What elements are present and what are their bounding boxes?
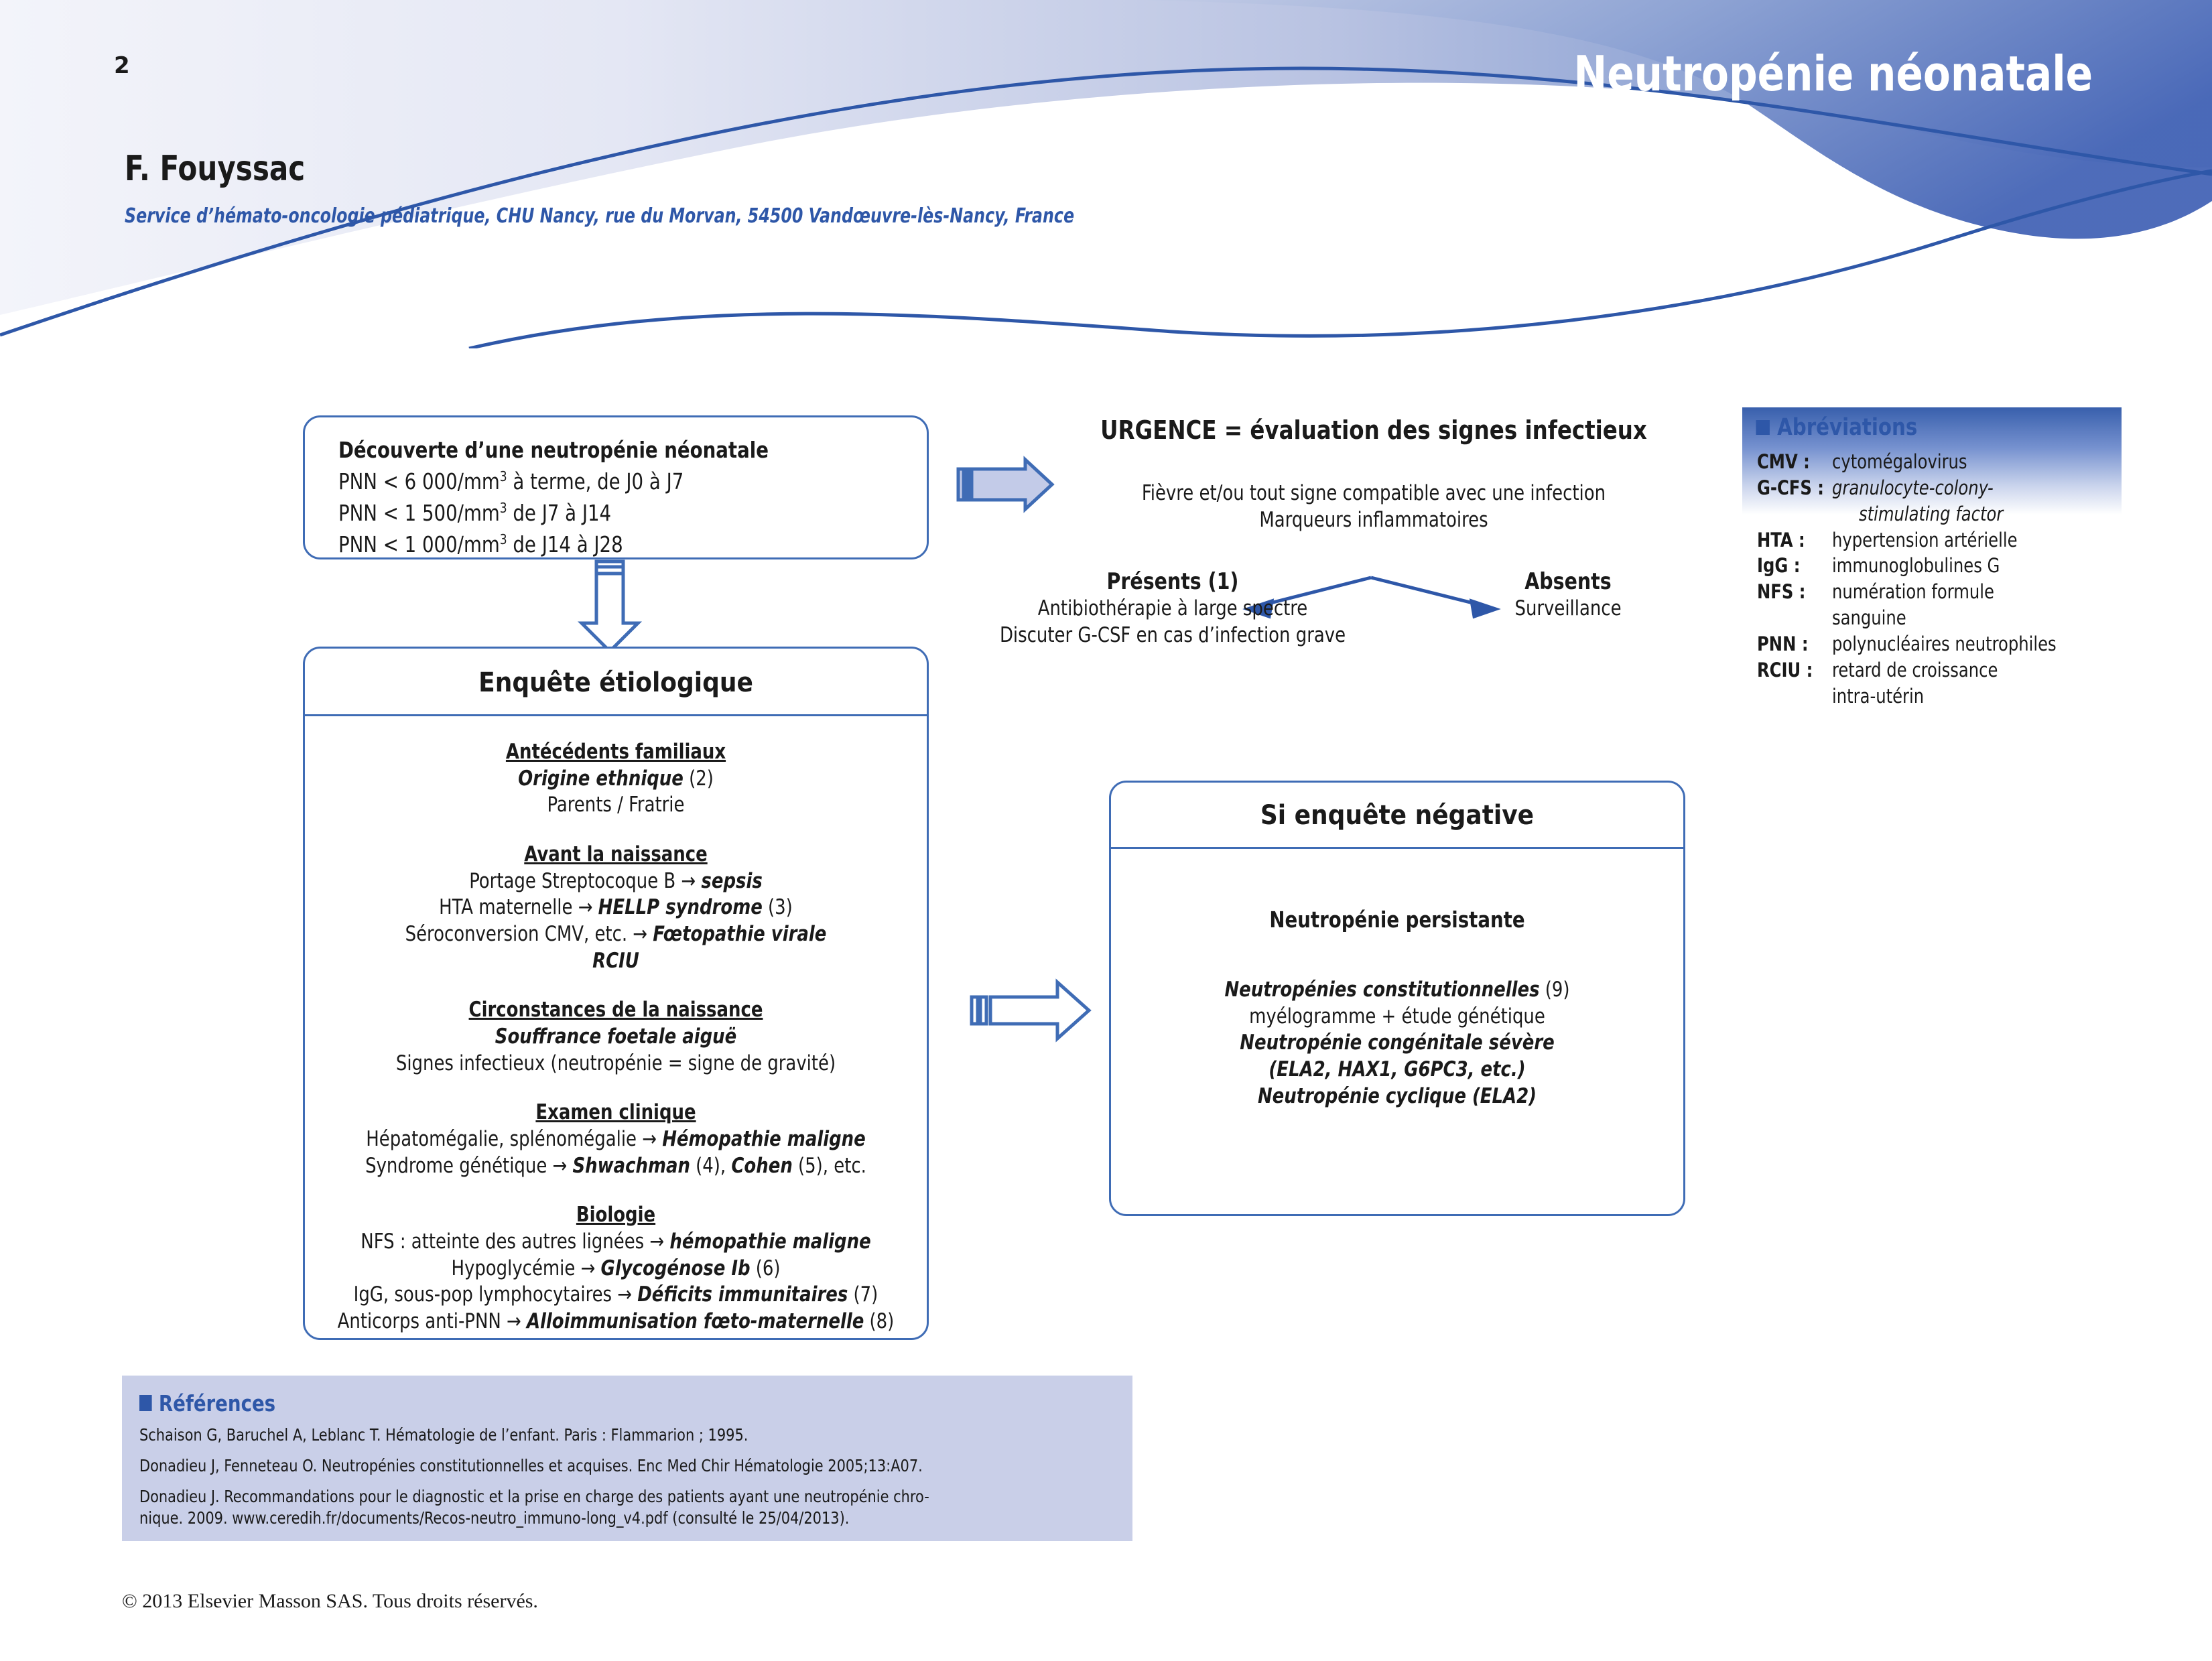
- enquete-section: Biologie NFS : atteinte des autres ligné…: [312, 1202, 920, 1335]
- emphasis-term: Souffrance foetale aiguë: [495, 1024, 736, 1049]
- abbreviation-key: G-CFS :: [1757, 475, 1827, 501]
- criterion-1-prefix: PNN < 6 000/mm: [338, 468, 500, 494]
- criterion-3-sup: 3: [500, 531, 507, 547]
- emphasis-term: sepsis: [701, 869, 762, 893]
- discovery-criterion-3: PNN < 1 000/mm3 de J14 à J28: [338, 529, 886, 561]
- emphasis-term: RCIU: [592, 949, 639, 973]
- abbreviation-value-continued: intra-utérin: [1757, 683, 2131, 710]
- abbreviation-value: numération formule: [1832, 579, 1994, 605]
- reference-item: Donadieu J, Fenneteau O. Neutropénies co…: [139, 1455, 1115, 1477]
- urgence-subtitles: Fièvre et/ou tout signe compatible avec …: [1065, 480, 1682, 534]
- plain-term: (4),: [690, 1154, 731, 1178]
- enquete-section: Examen cliniqueHépatomégalie, splénoméga…: [312, 1100, 920, 1179]
- plain-term: HTA maternelle →: [439, 895, 598, 919]
- abbreviations-panel: Abréviations CMV :cytomégalovirusG-CFS :…: [1742, 407, 2131, 710]
- plain-term: Hypoglycémie →: [451, 1256, 600, 1280]
- abbreviations-heading-text: Abréviations: [1777, 414, 1917, 441]
- section-line: Hépatomégalie, splénomégalie → Hémopathi…: [333, 1126, 899, 1153]
- enquete-box: Enquête étiologique Antécédents familiau…: [303, 647, 929, 1340]
- enquete-section-head: Avant la naissance: [333, 842, 899, 868]
- negative-divider: [1111, 847, 1683, 849]
- abbreviation-value-continued: sanguine: [1757, 605, 2131, 631]
- branch-absent: Absents Surveillance: [1441, 568, 1695, 622]
- enquete-section-head: Examen clinique: [333, 1100, 899, 1126]
- enquete-section-head: Antécédents familiaux: [333, 739, 899, 766]
- plain-term: (6): [751, 1256, 781, 1280]
- plain-term: Hépatomégalie, splénomégalie →: [366, 1127, 662, 1151]
- discovery-title: Découverte d’une neutropénie néonatale: [338, 435, 886, 466]
- abbreviation-value: granulocyte-colony-: [1832, 475, 1994, 501]
- abbreviation-row: G-CFS :granulocyte-colony-: [1757, 475, 2131, 501]
- references-list: Schaison G, Baruchel A, Leblanc T. Hémat…: [139, 1424, 1115, 1529]
- negative-persistent-label: Neutropénie persistante: [1131, 907, 1663, 933]
- urgence-subtitle-1: Fièvre et/ou tout signe compatible avec …: [1087, 480, 1661, 507]
- reference-line: nique. 2009. www.ceredih.fr/documents/Re…: [139, 1508, 1047, 1529]
- section-line: Neutropénie cyclique (ELA2): [1131, 1083, 1663, 1110]
- emphasis-term: Neutropénie congénitale sévère: [1240, 1031, 1554, 1055]
- criterion-2-sup: 3: [500, 500, 507, 516]
- abbreviations-heading: Abréviations: [1742, 407, 2103, 449]
- section-line: NFS : atteinte des autres lignées → hémo…: [333, 1229, 899, 1256]
- section-line: Signes infectieux (neutropénie = signe d…: [333, 1051, 899, 1077]
- section-line: Syndrome génétique → Shwachman (4), Cohe…: [333, 1153, 899, 1180]
- emphasis-term: Glycogénose Ib: [601, 1256, 751, 1280]
- urgence-block: URGENCE = évaluation des signes infectie…: [1065, 415, 1682, 534]
- enquete-body: Antécédents familiauxOrigine ethnique (2…: [305, 716, 927, 1335]
- plain-term: (7): [848, 1282, 878, 1307]
- page-title: Neutropénie néonatale: [1573, 46, 2093, 102]
- plain-term: Signes infectieux (neutropénie = signe d…: [396, 1051, 836, 1075]
- branch-present-line-1: Antibiothérapie à large spectre: [973, 595, 1372, 622]
- plain-term: (8): [864, 1309, 894, 1333]
- author-name: F. Fouyssac: [125, 149, 305, 189]
- abbreviation-row: NFS :numération formule: [1757, 579, 2131, 605]
- branch-present-head: Présents (1): [973, 568, 1372, 595]
- arrow-right-to-negative: [972, 982, 1089, 1039]
- abbreviation-key: CMV :: [1757, 449, 1827, 475]
- emphasis-term: Hémopathie maligne: [662, 1127, 866, 1151]
- negative-results: Neutropénies constitutionnelles (9)myélo…: [1111, 977, 1683, 1110]
- section-line: RCIU: [333, 948, 899, 975]
- emphasis-term: (ELA2, HAX1, G6PC3, etc.): [1268, 1057, 1525, 1081]
- enquete-section-head: Circonstances de la naissance: [333, 997, 899, 1024]
- abbreviation-value-continued-text: intra-utérin: [1832, 683, 1924, 710]
- abbreviations-list: CMV :cytomégalovirusG-CFS :granulocyte-c…: [1742, 449, 2131, 710]
- abbreviation-row: IgG :immunoglobulines G: [1757, 553, 2131, 579]
- reference-item: Schaison G, Baruchel A, Leblanc T. Hémat…: [139, 1424, 1115, 1446]
- section-line: Anticorps anti-PNN → Alloimmunisation fœ…: [333, 1309, 899, 1335]
- discovery-criterion-1: PNN < 6 000/mm3 à terme, de J0 à J7: [338, 466, 886, 498]
- branch-absent-line-1: Surveillance: [1449, 595, 1686, 622]
- criterion-3-suffix: de J14 à J28: [507, 531, 623, 557]
- emphasis-term: Déficits immunitaires: [637, 1282, 848, 1307]
- emphasis-term: Shwachman: [572, 1154, 690, 1178]
- emphasis-term: Neutropénies constitutionnelles: [1224, 978, 1539, 1002]
- page-number: 2: [114, 52, 129, 79]
- emphasis-term: Fœtopathie virale: [653, 922, 826, 946]
- emphasis-term: Alloimmunisation fœto-maternelle: [527, 1309, 864, 1333]
- abbreviation-key: HTA :: [1757, 527, 1827, 553]
- plain-term: NFS : atteinte des autres lignées →: [361, 1230, 669, 1254]
- plain-term: (9): [1540, 978, 1570, 1002]
- plain-term: Portage Streptocoque B →: [469, 869, 701, 893]
- reference-line: Donadieu J. Recommandations pour le diag…: [139, 1486, 1047, 1508]
- reference-line: Schaison G, Baruchel A, Leblanc T. Hémat…: [139, 1424, 1047, 1446]
- reference-item: Donadieu J. Recommandations pour le diag…: [139, 1486, 1115, 1529]
- enquete-section: Avant la naissancePortage Streptocoque B…: [312, 842, 920, 974]
- abbreviation-row: CMV :cytomégalovirus: [1757, 449, 2131, 475]
- abbreviation-value: cytomégalovirus: [1832, 449, 1967, 475]
- branch-absent-head: Absents: [1449, 568, 1686, 595]
- arrow-down-discovery-to-enquete: [582, 561, 638, 651]
- section-line: Parents / Fratrie: [333, 792, 899, 819]
- negative-title: Si enquête négative: [1111, 783, 1683, 847]
- abbreviation-value-continued-text: stimulating factor: [1859, 501, 2003, 527]
- plain-term: Séroconversion CMV, etc. →: [405, 922, 653, 946]
- plain-term: (5), etc.: [793, 1154, 866, 1178]
- header-banner: 2 Neutropénie néonatale: [0, 0, 2212, 348]
- emphasis-term: Neutropénie cyclique (ELA2): [1258, 1084, 1537, 1108]
- discovery-box: Découverte d’une neutropénie néonatale P…: [303, 415, 929, 559]
- emphasis-term: Origine ethnique: [518, 767, 684, 791]
- abbreviation-value-continued-text: sanguine: [1832, 605, 1906, 631]
- negative-box: Si enquête négative Neutropénie persista…: [1109, 781, 1685, 1216]
- criterion-1-suffix: à terme, de J0 à J7: [507, 468, 684, 494]
- criterion-2-suffix: de J7 à J14: [507, 500, 611, 526]
- abbreviation-key: RCIU :: [1757, 657, 1827, 683]
- plain-term: (2): [684, 767, 714, 791]
- criterion-3-prefix: PNN < 1 000/mm: [338, 531, 500, 557]
- section-line: (ELA2, HAX1, G6PC3, etc.): [1131, 1057, 1663, 1083]
- enquete-section: Antécédents familiauxOrigine ethnique (2…: [312, 739, 920, 819]
- plain-term: Anticorps anti-PNN →: [338, 1309, 527, 1333]
- enquete-section-head: Biologie: [333, 1202, 899, 1229]
- section-line: Portage Streptocoque B → sepsis: [333, 868, 899, 895]
- arrow-right-to-urgence: [958, 460, 1052, 509]
- plain-term: IgG, sous-pop lymphocytaires →: [354, 1282, 638, 1307]
- abbreviation-value-continued: stimulating factor: [1757, 501, 2131, 527]
- author-affiliation: Service d’hémato-oncologie pédiatrique, …: [125, 204, 1074, 228]
- plain-term: (3): [763, 895, 793, 919]
- references-heading-text: Références: [159, 1390, 275, 1416]
- abbreviation-row: PNN :polynucléaires neutrophiles: [1757, 631, 2131, 657]
- section-line: Hypoglycémie → Glycogénose Ib (6): [333, 1256, 899, 1282]
- plain-term: Syndrome génétique →: [365, 1154, 572, 1178]
- abbreviation-value: hypertension artérielle: [1832, 527, 2018, 553]
- abbreviation-value: retard de croissance: [1832, 657, 1998, 683]
- abbreviation-key: NFS :: [1757, 579, 1827, 605]
- abbreviation-row: HTA :hypertension artérielle: [1757, 527, 2131, 553]
- abbreviation-row: RCIU :retard de croissance: [1757, 657, 2131, 683]
- emphasis-term: HELLP syndrome: [598, 895, 763, 919]
- section-line: Souffrance foetale aiguë: [333, 1024, 899, 1051]
- abbreviation-key: IgG :: [1757, 553, 1827, 579]
- abbreviation-key: PNN :: [1757, 631, 1827, 657]
- criterion-1-sup: 3: [500, 468, 507, 484]
- urgence-title: URGENCE = évaluation des signes infectie…: [1081, 415, 1667, 445]
- abbreviation-value: immunoglobulines G: [1832, 553, 2000, 579]
- enquete-title: Enquête étiologique: [305, 649, 927, 714]
- section-line: IgG, sous-pop lymphocytaires → Déficits …: [333, 1282, 899, 1309]
- branch-present: Présents (1) Antibiothérapie à large spe…: [958, 568, 1387, 649]
- emphasis-term: hémopathie maligne: [669, 1230, 870, 1254]
- discovery-criterion-2: PNN < 1 500/mm3 de J7 à J14: [338, 498, 886, 529]
- section-line: Origine ethnique (2): [333, 766, 899, 793]
- abbreviation-value: polynucléaires neutrophiles: [1832, 631, 2057, 657]
- section-line: Neutropénies constitutionnelles (9): [1131, 977, 1663, 1004]
- enquete-section: Circonstances de la naissanceSouffrance …: [312, 997, 920, 1077]
- reference-line: Donadieu J, Fenneteau O. Neutropénies co…: [139, 1455, 1047, 1477]
- references-heading: Références: [139, 1390, 1047, 1416]
- references-panel: Références Schaison G, Baruchel A, Lebla…: [122, 1376, 1132, 1541]
- square-bullet-icon: [139, 1395, 152, 1411]
- section-line: HTA maternelle → HELLP syndrome (3): [333, 894, 899, 921]
- section-line: Séroconversion CMV, etc. → Fœtopathie vi…: [333, 921, 899, 948]
- plain-term: myélogramme + étude génétique: [1249, 1004, 1545, 1028]
- plain-term: Parents / Fratrie: [547, 793, 685, 817]
- emphasis-term: Cohen: [731, 1154, 792, 1178]
- section-line: Neutropénie congénitale sévère: [1131, 1030, 1663, 1057]
- criterion-2-prefix: PNN < 1 500/mm: [338, 500, 500, 526]
- urgence-subtitle-2: Marqueurs inflammatoires: [1087, 507, 1661, 533]
- branch-present-line-2: Discuter G-CSF en cas d’infection grave: [973, 622, 1372, 649]
- copyright-notice: © 2013 Elsevier Masson SAS. Tous droits …: [122, 1590, 538, 1613]
- section-line: myélogramme + étude génétique: [1131, 1004, 1663, 1031]
- square-bullet-icon: [1756, 420, 1769, 435]
